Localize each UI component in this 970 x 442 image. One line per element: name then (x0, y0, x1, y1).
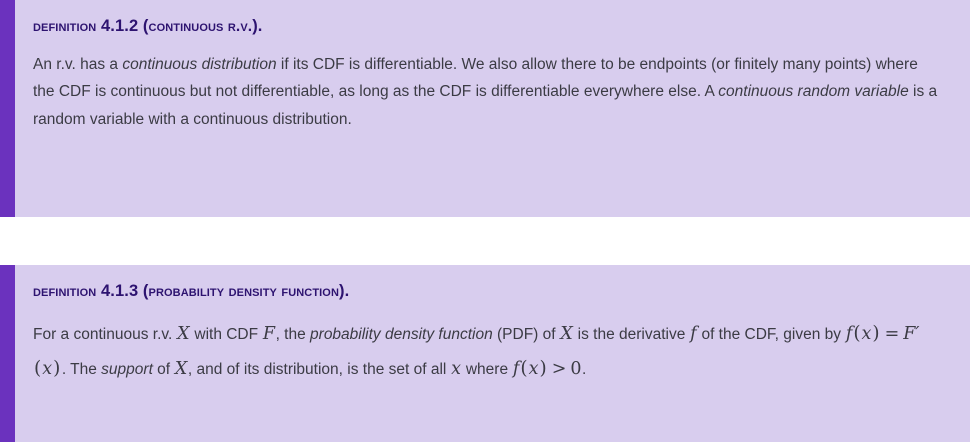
inequality-right-paren: ) (538, 358, 547, 379)
emphasis-probability-density-function: probability density function (310, 326, 493, 343)
math-formula-support-inequality: f(x)>0 (512, 359, 582, 379)
definition-name: Continuous r.v. (149, 18, 253, 35)
definition-keyword: Definition (33, 18, 96, 35)
formula-left-paren: ( (33, 358, 42, 379)
formula-right-paren: ) (871, 323, 880, 344)
definition-body: For a continuous r.v. X with CDF F, the … (33, 316, 940, 387)
body-text-part-1: An r.v. has a (33, 56, 122, 73)
math-variable-f-capital: F (262, 324, 275, 344)
math-variable-x-capital: X (177, 324, 190, 344)
definition-period: . (345, 282, 350, 300)
body-text-part-9: , and of its distribution, is the set of… (188, 361, 451, 378)
body-text-part-5: is the derivative (573, 326, 689, 343)
body-text-part-1: For a continuous r.v. (33, 326, 177, 343)
emphasis-continuous-distribution: continuous distribution (122, 56, 276, 73)
body-text-part-2: with CDF (190, 326, 262, 343)
formula-right-paren: ) (52, 358, 61, 379)
body-text-part-8: of (153, 361, 175, 378)
definition-block-continuous-rv: Definition 4.1.2 (Continuous r.v.). An r… (0, 0, 970, 217)
accent-bar (0, 265, 15, 442)
definition-number: 4.1.2 (101, 17, 138, 35)
math-variable-x-lower: x (451, 359, 462, 379)
definition-number-wrap: 4.1.2 (96, 17, 143, 35)
body-text-part-6: of the CDF, given by (697, 326, 845, 343)
block-separator-gap (0, 217, 970, 265)
definition-name: Probability density function (149, 283, 339, 300)
body-text-part-10: where (462, 361, 513, 378)
math-variable-x-capital: X (174, 359, 187, 379)
definitions-page: Definition 4.1.2 (Continuous r.v.). An r… (0, 0, 970, 442)
inequality-x: x (529, 359, 539, 379)
definition-block-pdf: Definition 4.1.3 (Probability density fu… (0, 265, 970, 442)
formula-prime-symbol: ′ (915, 324, 919, 344)
body-text-part-4: (PDF) of (493, 326, 560, 343)
formula-left-paren: ( (852, 323, 861, 344)
inequality-left-paren: ( (519, 358, 528, 379)
definition-period: . (258, 17, 263, 35)
body-text-part-7: . The (62, 361, 101, 378)
definition-keyword: Definition (33, 283, 96, 300)
accent-bar (0, 0, 15, 217)
body-text-part-11: . (582, 361, 586, 378)
inequality-zero: 0 (570, 359, 581, 379)
definition-title: Definition 4.1.2 (Continuous r.v.). (33, 14, 940, 39)
formula-F: F (903, 324, 915, 344)
formula-x: x (862, 324, 872, 344)
math-variable-x-capital: X (560, 324, 573, 344)
inequality-greater-than-sign: > (548, 359, 571, 379)
definition-title: Definition 4.1.3 (Probability density fu… (33, 279, 940, 304)
definition-number-wrap: 4.1.3 (96, 282, 143, 300)
emphasis-support: support (101, 361, 153, 378)
definition-number: 4.1.3 (101, 282, 138, 300)
definition-body: An r.v. has a continuous distribution if… (33, 51, 940, 134)
formula-equals-sign: = (881, 324, 904, 344)
body-text-part-3: , the (276, 326, 310, 343)
formula-x: x (42, 359, 52, 379)
emphasis-continuous-random-variable: continuous random variable (718, 83, 908, 100)
